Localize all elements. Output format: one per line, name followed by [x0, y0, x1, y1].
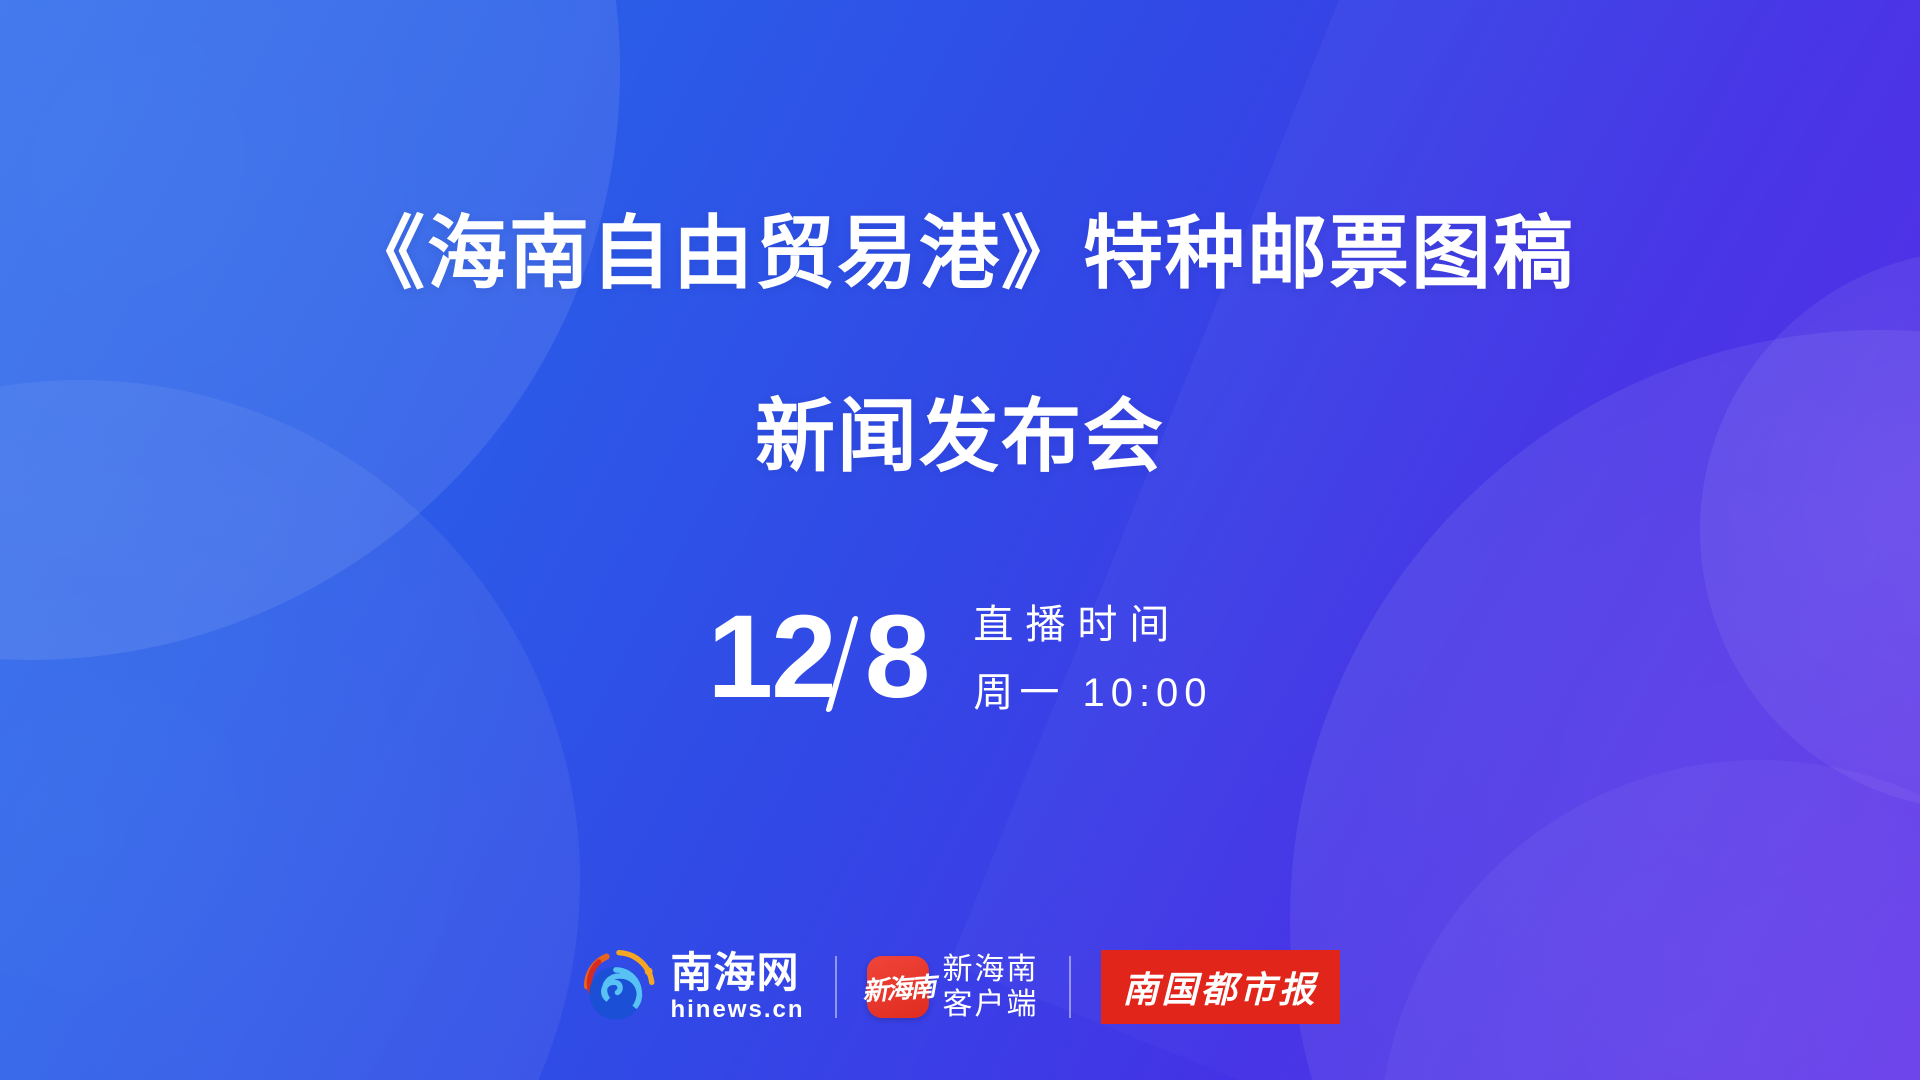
broadcast-time-value: 周一 10:00 [973, 660, 1212, 718]
title-line-1: 《海南自由贸易港》特种邮票图稿 [0, 212, 1920, 297]
page-title: 《海南自由贸易港》特种邮票图稿 新闻发布会 [0, 212, 1920, 480]
broadcast-time-label: 直播时间 [973, 592, 1212, 650]
live-announcement-poster: 《海南自由贸易港》特种邮票图稿 新闻发布会 12 8 直播时间 周一 10:00 [0, 0, 1920, 1080]
date-month: 12 [707, 598, 834, 716]
title-line-2: 新闻发布会 [0, 395, 1920, 480]
date-time-row: 12 8 直播时间 周一 10:00 [707, 592, 1212, 722]
date-display: 12 8 [707, 598, 929, 716]
broadcast-time-block: 直播时间 周一 10:00 [973, 592, 1212, 718]
poster-content: 《海南自由贸易港》特种邮票图稿 新闻发布会 12 8 直播时间 周一 10:00 [0, 0, 1920, 1080]
date-day: 8 [865, 598, 930, 716]
